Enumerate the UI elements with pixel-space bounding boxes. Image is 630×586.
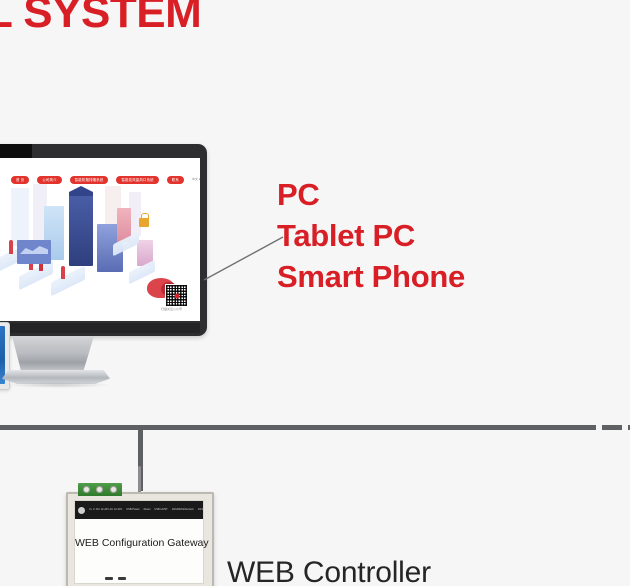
gateway-port-strip: V+ V- DC 12-24V AC 12-24V USB Power Rese… [75, 501, 203, 519]
green-terminal-block [78, 483, 122, 496]
network-bus-line [0, 425, 576, 430]
page-title: L SYSTEM [0, 0, 201, 38]
web-configuration-gateway: V+ V- DC 12-24V AC 12-24V USB Power Rese… [66, 492, 214, 586]
leader-line-to-pc-label [203, 234, 285, 282]
qr-caption: 扫描关注公众号 [161, 307, 182, 311]
controller-label: WEB Controller [227, 556, 431, 586]
port-label-usb-host: USB HOST [154, 508, 167, 512]
qr-center-dot [174, 293, 179, 298]
device-label-group: PC Tablet PC Smart Phone [277, 174, 465, 297]
terminal-screw [96, 486, 103, 493]
terminal-screw [83, 486, 90, 493]
desktop-monitor: 首 页 公司简介 智能防烟排烟系统 智能变风量风口系统 联系 中文 Englis… [0, 144, 207, 336]
gateway-front-panel: V+ V- DC 12-24V AC 12-24V USB Power Rese… [74, 500, 204, 584]
port-label-ethernet1: 10/100M Ethernet1 [172, 508, 194, 512]
gateway-product-title: WEB Configuration Gateway [75, 537, 203, 549]
tablet-screen [0, 326, 5, 384]
monitor-stand-neck [12, 336, 94, 374]
monitor-screen: 首 页 公司简介 智能防烟排烟系统 智能变风量风口系统 联系 中文 Englis… [0, 158, 200, 321]
gateway-antenna [138, 466, 141, 494]
port-label-ethernet2: 10/100M Ethernet2 [198, 508, 203, 512]
gateway-buttons [105, 577, 126, 580]
gateway-button [105, 577, 113, 580]
port-label-usb-power: USB Power [126, 508, 139, 512]
device-label-tablet-pc: Tablet PC [277, 215, 465, 256]
diagram-canvas: L SYSTEM 首 页 公司简介 智能防烟排烟系统 智能变风量风口系统 联系 … [0, 0, 630, 586]
qr-code [165, 284, 188, 307]
monitor-top-bezel [0, 144, 32, 158]
webpage-content: 首 页 公司简介 智能防烟排烟系统 智能变风量风口系统 联系 中文 Englis… [0, 158, 200, 321]
brand-logo-icon [78, 507, 85, 514]
device-label-smart-phone: Smart Phone [277, 256, 465, 297]
monitor-bottom-bezel [0, 323, 200, 333]
port-label-reset: Reset [144, 508, 151, 512]
terminal-screw [110, 486, 117, 493]
device-label-pc: PC [277, 174, 465, 215]
port-label-power: V+ V- DC 12-24V AC 12-24V [89, 508, 122, 512]
network-bus-dashed-extension [576, 425, 630, 430]
monitor-shadow [6, 382, 110, 388]
gateway-button [118, 577, 126, 580]
